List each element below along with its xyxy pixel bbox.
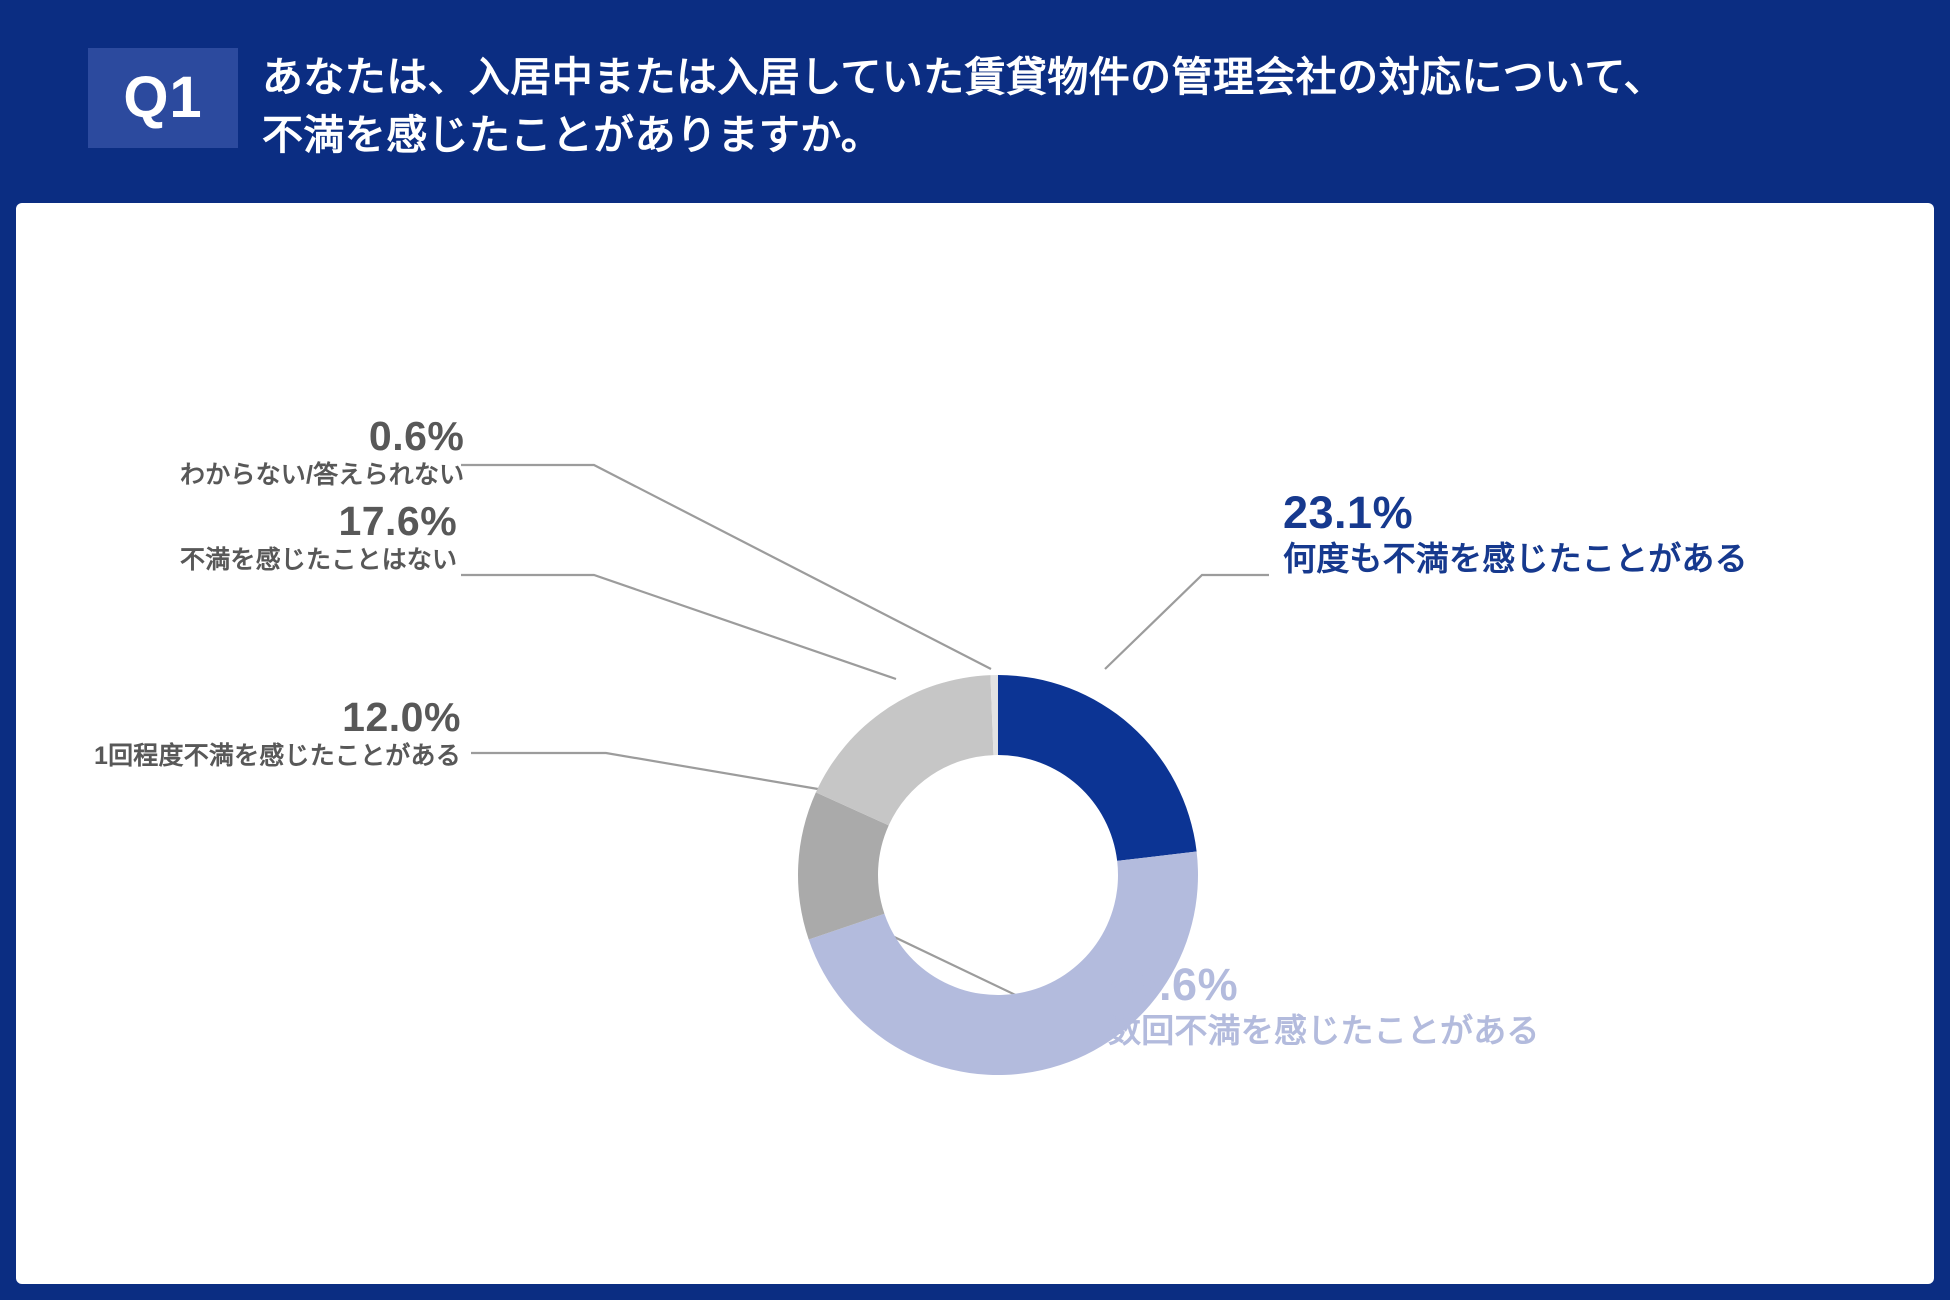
slide-root: Q1 あなたは、入居中または入居していた賃貸物件の管理会社の対応について、 不満… bbox=[0, 0, 1950, 1300]
slice-many bbox=[998, 675, 1197, 861]
callout-label-once: 12.0% 1回程度不満を感じたことがある bbox=[94, 695, 461, 772]
callout-pct-unknown: 0.6% bbox=[180, 414, 464, 460]
question-title-line-2: 不満を感じたことがありますか。 bbox=[262, 106, 1862, 164]
question-title: あなたは、入居中または入居していた賃貸物件の管理会社の対応について、 不満を感じ… bbox=[262, 48, 1862, 164]
header-band: Q1 あなたは、入居中または入居していた賃貸物件の管理会社の対応について、 不満… bbox=[0, 0, 1950, 196]
slice-none bbox=[816, 675, 994, 825]
callout-name-once: 1回程度不満を感じたことがある bbox=[94, 741, 461, 772]
callout-label-none: 17.6% 不満を感じたことはない bbox=[180, 499, 457, 576]
callout-name-none: 不満を感じたことはない bbox=[180, 545, 457, 576]
callout-label-several: 46.6% 数回不満を感じたことがある bbox=[1108, 960, 1540, 1052]
donut-chart: 0.6% わからない/答えられない 17.6% 不満を感じたことはない 12.0… bbox=[16, 203, 1934, 1284]
leader-line-many bbox=[1105, 575, 1269, 669]
callout-name-many: 何度も不満を感じたことがある bbox=[1283, 538, 1748, 579]
content-card: 0.6% わからない/答えられない 17.6% 不満を感じたことはない 12.0… bbox=[16, 203, 1934, 1284]
question-number-badge: Q1 bbox=[88, 48, 238, 148]
callout-label-unknown: 0.6% わからない/答えられない bbox=[180, 414, 464, 491]
callout-label-many: 23.1% 何度も不満を感じたことがある bbox=[1283, 488, 1748, 580]
callout-pct-many: 23.1% bbox=[1283, 488, 1748, 538]
callout-pct-none: 17.6% bbox=[180, 499, 457, 545]
callout-name-unknown: わからない/答えられない bbox=[180, 460, 464, 491]
callout-pct-once: 12.0% bbox=[94, 695, 461, 741]
leader-line-unknown bbox=[461, 465, 991, 669]
question-title-line-1: あなたは、入居中または入居していた賃貸物件の管理会社の対応について、 bbox=[262, 48, 1862, 106]
question-number-label: Q1 bbox=[123, 69, 202, 127]
leader-line-once bbox=[471, 753, 818, 789]
leader-line-none bbox=[461, 575, 896, 679]
callout-name-several: 数回不満を感じたことがある bbox=[1108, 1010, 1540, 1051]
callout-pct-several: 46.6% bbox=[1108, 960, 1540, 1010]
